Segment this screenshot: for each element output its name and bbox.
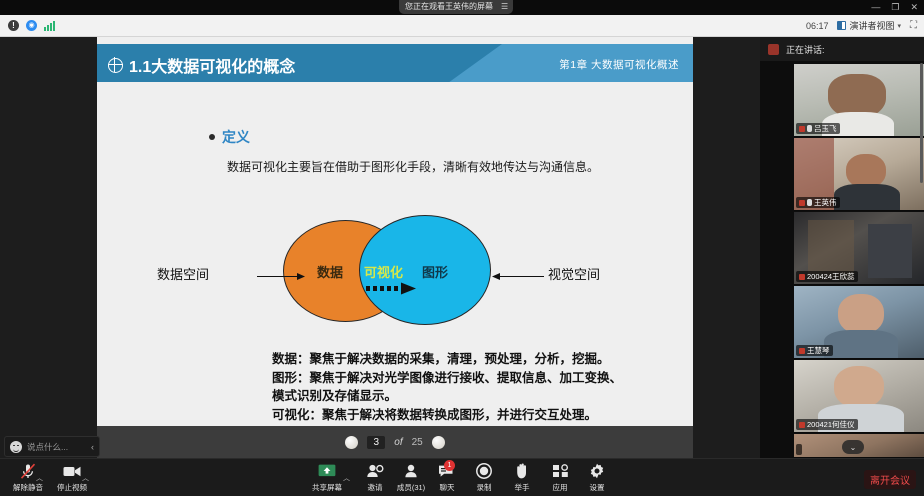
chevron-down-icon[interactable]: ▾	[897, 22, 901, 30]
chat-icon: 1	[435, 462, 459, 480]
participant-name: 吕玉飞	[814, 123, 837, 134]
active-speaker-label: 正在讲话:	[786, 43, 825, 56]
record-icon	[476, 462, 492, 480]
mic-icon	[807, 125, 812, 132]
current-page-input[interactable]: 3	[367, 436, 385, 449]
mic-muted-icon	[799, 348, 805, 354]
participant-name-badge: 200421何佳仪	[796, 419, 858, 430]
active-speaker-bar: 正在讲话:	[760, 37, 924, 61]
slide-chapter-label: 第1章 大数据可视化概述	[559, 57, 679, 72]
definition-text: 数据可视化主要旨在借助于图形化手段，清晰有效地传达与沟通信息。	[227, 158, 599, 175]
video-tile[interactable]: 200421何佳仪	[794, 360, 924, 433]
participant-video-panel: 正在讲话: 吕玉飞 王英伟	[760, 37, 924, 458]
video-tile[interactable]: 王英伟	[794, 138, 924, 211]
invite-person-icon	[366, 462, 384, 480]
speaking-mic-icon	[768, 44, 779, 55]
venn-left-space-label: 数据空间	[157, 264, 209, 283]
zoom-meeting-window: 您正在观看王英伟的屏幕 ☰ — ❐ ✕ ! ◉ 06:17 演讲者视图 ▾ ⛶	[0, 0, 924, 496]
toolbar-share-screen-label: 共享屏幕	[312, 482, 342, 493]
maximize-button[interactable]: ❐	[891, 2, 899, 12]
video-tile[interactable]: 王慧琴	[794, 286, 924, 359]
menu-icon[interactable]: ☰	[501, 0, 507, 14]
microphone-muted-icon	[20, 462, 36, 480]
arrow-right-icon	[257, 272, 305, 281]
mic-muted-icon	[799, 126, 805, 132]
slide-title: 1.1大数据可视化的概念	[108, 53, 295, 77]
share-screen-icon	[318, 462, 336, 480]
toolbar-raise-hand-label: 举手	[515, 482, 530, 493]
participant-name: 王英伟	[814, 197, 837, 208]
raise-hand-icon	[515, 462, 530, 480]
apps-icon	[552, 462, 569, 480]
chat-unread-badge: 1	[444, 460, 455, 471]
toolbar-participants-label: 成员(31)	[397, 482, 425, 493]
slide-header: 1.1大数据可视化的概念 第1章 大数据可视化概述	[97, 44, 693, 82]
video-options-chevron-icon[interactable]: ︿	[82, 473, 89, 483]
participant-name-badge: 200424王欣蕊	[796, 271, 858, 282]
slide-description-block: 数据：聚焦于解决数据的采集，清理，预处理，分析，挖掘。 图形：聚焦于解决对光学图…	[272, 350, 622, 424]
collapse-chat-icon[interactable]: ‹	[91, 442, 94, 452]
presenter-view-icon	[837, 21, 846, 30]
slide-navigation-bar: 3 of 25	[97, 426, 693, 458]
slide-title-text: 1.1大数据可视化的概念	[129, 53, 295, 77]
participant-name: 200421何佳仪	[807, 419, 855, 430]
video-tile[interactable]: 吕玉飞	[794, 64, 924, 137]
participant-name-badge: 王慧琴	[796, 345, 833, 356]
venn-label-data: 数据	[317, 262, 343, 281]
venn-diagram: 数据 可视化 图形 数据空间 视觉空间	[97, 212, 693, 332]
shared-screen-stage: 1.1大数据可视化的概念 第1章 大数据可视化概述 定义 数据可视化主要旨在借助…	[0, 37, 760, 458]
toolbar-settings-button[interactable]: 设置	[575, 462, 619, 493]
bullet-label: 定义	[222, 127, 250, 147]
arrow-left-icon	[492, 272, 544, 281]
share-toolbar: ! ◉ 06:17 演讲者视图 ▾ ⛶	[0, 15, 924, 37]
mic-muted-icon	[799, 274, 805, 280]
title-bar: 您正在观看王英伟的屏幕 ☰ — ❐ ✕	[0, 0, 924, 15]
participant-name-badge: 王英伟	[796, 197, 840, 208]
venn-label-graphics: 图形	[422, 262, 448, 281]
participant-name-badge	[796, 444, 802, 455]
info-icon[interactable]: !	[8, 20, 19, 31]
presentation-slide: 1.1大数据可视化的概念 第1章 大数据可视化概述 定义 数据可视化主要旨在借助…	[97, 37, 693, 458]
mic-muted-icon	[799, 200, 805, 206]
total-pages-label: 25	[412, 437, 423, 448]
screen-share-notice: 您正在观看王英伟的屏幕 ☰	[399, 0, 513, 14]
chat-input-placeholder[interactable]: 说点什么...	[27, 441, 86, 453]
toolbar-mute-label: 解除静音	[13, 482, 43, 493]
video-tile[interactable]: 200424王欣蕊	[794, 212, 924, 285]
video-panel-scroll-down-button[interactable]: ⌄	[842, 440, 864, 454]
description-line: 图形：聚焦于解决对光学图像进行接收、提取信息、加工变换、	[272, 369, 622, 388]
share-toolbar-status-icons: ! ◉	[0, 20, 55, 31]
description-line: 数据：聚焦于解决数据的采集，清理，预处理，分析，挖掘。	[272, 350, 622, 369]
participant-name-badge: 吕玉飞	[796, 123, 840, 134]
gear-icon	[589, 462, 605, 480]
bullet-dot-icon	[209, 134, 215, 140]
video-panel-scrollbar[interactable]	[920, 63, 923, 183]
screen-share-notice-text: 您正在观看王英伟的屏幕	[405, 0, 493, 14]
emoji-icon[interactable]	[10, 441, 22, 453]
chat-input-bar[interactable]: 说点什么... ‹	[4, 436, 100, 457]
participants-icon	[402, 462, 420, 480]
mic-muted-icon	[799, 422, 805, 428]
toolbar-mute-button[interactable]: 解除静音	[6, 462, 50, 493]
participant-name: 200424王欣蕊	[807, 271, 855, 282]
dashed-arrow-icon	[365, 282, 417, 295]
signal-icon[interactable]	[44, 20, 55, 31]
toolbar-record-label: 录制	[477, 482, 492, 493]
venn-label-visualization: 可视化	[364, 262, 403, 281]
description-line: 模式识别及存储显示。	[272, 387, 622, 406]
view-mode-label: 演讲者视图	[849, 19, 894, 32]
toolbar-settings-label: 设置	[590, 482, 605, 493]
description-line: 可视化：聚焦于解决将数据转换成图形，并进行交互处理。	[272, 406, 622, 425]
share-toolbar-right: 06:17 演讲者视图 ▾ ⛶	[806, 19, 924, 32]
mic-icon	[807, 199, 812, 206]
minimize-button[interactable]: —	[871, 2, 880, 12]
page-of-label: of	[394, 437, 402, 448]
prev-slide-button[interactable]	[345, 436, 358, 449]
toolbar-chat-label: 聊天	[440, 482, 455, 493]
window-controls: — ❐ ✕	[871, 2, 918, 12]
participant-name: 王慧琴	[807, 345, 830, 356]
meeting-toolbar: 解除静音 ︿ 停止视频 ︿ 共享屏幕 ︿	[0, 458, 924, 496]
meeting-timer: 06:17	[806, 21, 829, 31]
toolbar-invite-label: 邀请	[368, 482, 383, 493]
globe-icon	[108, 58, 123, 73]
slide-bullet-definition: 定义	[209, 127, 250, 147]
fullscreen-icon[interactable]: ⛶	[910, 20, 916, 31]
view-mode-button[interactable]: 演讲者视图 ▾	[837, 19, 901, 32]
share-options-chevron-icon[interactable]: ︿	[343, 473, 350, 483]
next-slide-button[interactable]	[432, 436, 445, 449]
shield-icon[interactable]: ◉	[26, 20, 37, 31]
venn-right-space-label: 视觉空间	[548, 264, 600, 283]
toolbar-apps-label: 应用	[553, 482, 568, 493]
video-camera-icon	[63, 462, 81, 480]
toolbar-video-label: 停止视频	[57, 482, 87, 493]
close-button[interactable]: ✕	[910, 2, 918, 12]
leave-meeting-button[interactable]: 离开会议	[864, 470, 916, 489]
mute-options-chevron-icon[interactable]: ︿	[36, 473, 43, 483]
